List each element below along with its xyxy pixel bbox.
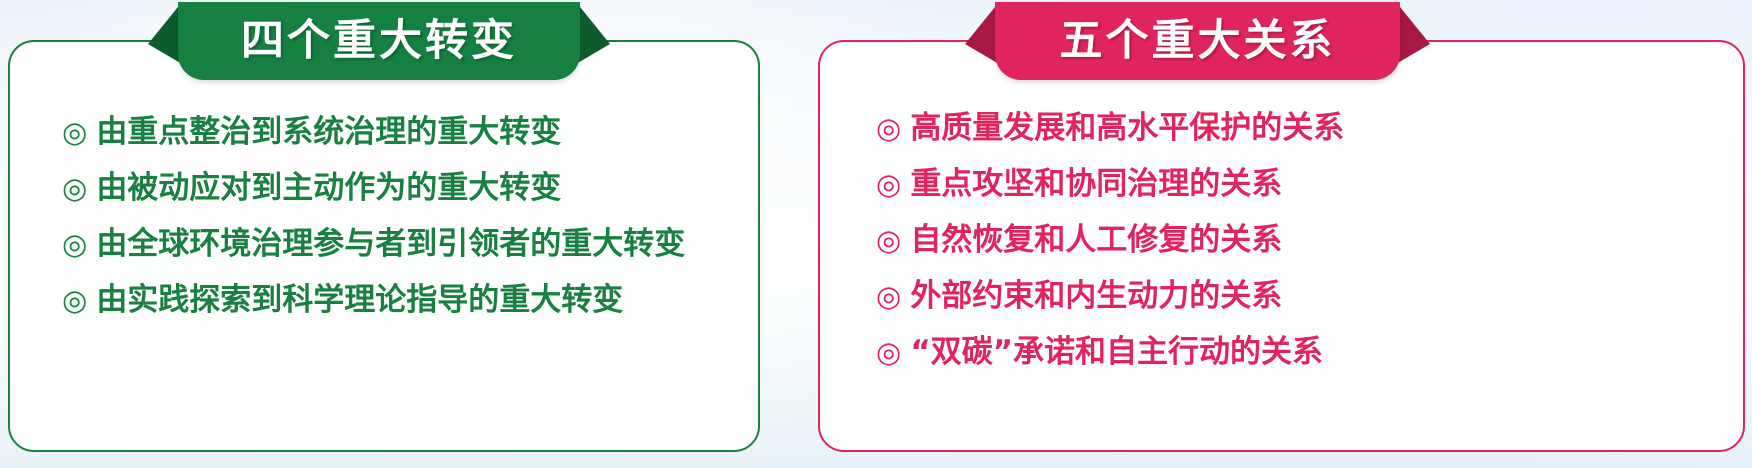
panel-five-major-relationships: ◎ 高质量发展和高水平保护的关系 ◎ 重点攻坚和协同治理的关系 ◎ 自然恢复和人… (818, 40, 1745, 452)
banner-four-major-transformations: 四个重大转变 (178, 2, 580, 80)
transformations-list: ◎ 由重点整治到系统治理的重大转变 ◎ 由被动应对到主动作为的重大转变 ◎ 由全… (10, 104, 758, 328)
double-circle-bullet-icon: ◎ (62, 104, 87, 160)
double-circle-bullet-icon: ◎ (62, 160, 87, 216)
list-item-label: 自然恢复和人工修复的关系 (910, 212, 1282, 268)
list-item-label: 重点攻坚和协同治理的关系 (910, 156, 1282, 212)
relationships-list: ◎ 高质量发展和高水平保护的关系 ◎ 重点攻坚和协同治理的关系 ◎ 自然恢复和人… (820, 100, 1743, 380)
ribbon-body: 五个重大关系 (995, 2, 1400, 80)
ribbon-fold-left-icon (965, 2, 999, 80)
ribbon-body: 四个重大转变 (178, 2, 580, 80)
list-item: ◎ “双碳”承诺和自主行动的关系 (876, 324, 1743, 380)
list-item-label: 由实践探索到科学理论指导的重大转变 (96, 272, 623, 328)
list-item: ◎ 由全球环境治理参与者到引领者的重大转变 (62, 216, 758, 272)
list-item-label: “双碳”承诺和自主行动的关系 (910, 324, 1323, 380)
list-item: ◎ 重点攻坚和协同治理的关系 (876, 156, 1743, 212)
ribbon-fold-right-icon (576, 2, 610, 80)
list-item: ◎ 外部约束和内生动力的关系 (876, 268, 1743, 324)
list-item: ◎ 高质量发展和高水平保护的关系 (876, 100, 1743, 156)
double-circle-bullet-icon: ◎ (876, 324, 901, 380)
list-item-label: 由被动应对到主动作为的重大转变 (96, 160, 561, 216)
ribbon-fold-left-icon (148, 2, 182, 80)
list-item-label: 高质量发展和高水平保护的关系 (910, 100, 1344, 156)
ribbon-fold-right-icon (1396, 2, 1430, 80)
list-item-label: 外部约束和内生动力的关系 (910, 268, 1282, 324)
list-item-label: 由全球环境治理参与者到引领者的重大转变 (96, 216, 685, 272)
double-circle-bullet-icon: ◎ (876, 212, 901, 268)
list-item: ◎ 由重点整治到系统治理的重大转变 (62, 104, 758, 160)
banner-title: 五个重大关系 (1060, 20, 1336, 63)
double-circle-bullet-icon: ◎ (876, 156, 901, 212)
double-circle-bullet-icon: ◎ (876, 100, 901, 156)
banner-title: 四个重大转变 (241, 20, 517, 63)
double-circle-bullet-icon: ◎ (876, 268, 901, 324)
list-item: ◎ 自然恢复和人工修复的关系 (876, 212, 1743, 268)
panel-four-major-transformations: ◎ 由重点整治到系统治理的重大转变 ◎ 由被动应对到主动作为的重大转变 ◎ 由全… (8, 40, 760, 452)
double-circle-bullet-icon: ◎ (62, 272, 87, 328)
list-item-label: 由重点整治到系统治理的重大转变 (96, 104, 561, 160)
list-item: ◎ 由实践探索到科学理论指导的重大转变 (62, 272, 758, 328)
double-circle-bullet-icon: ◎ (62, 216, 87, 272)
infographic-stage: ◎ 由重点整治到系统治理的重大转变 ◎ 由被动应对到主动作为的重大转变 ◎ 由全… (0, 0, 1752, 468)
banner-five-major-relationships: 五个重大关系 (995, 2, 1400, 80)
list-item: ◎ 由被动应对到主动作为的重大转变 (62, 160, 758, 216)
